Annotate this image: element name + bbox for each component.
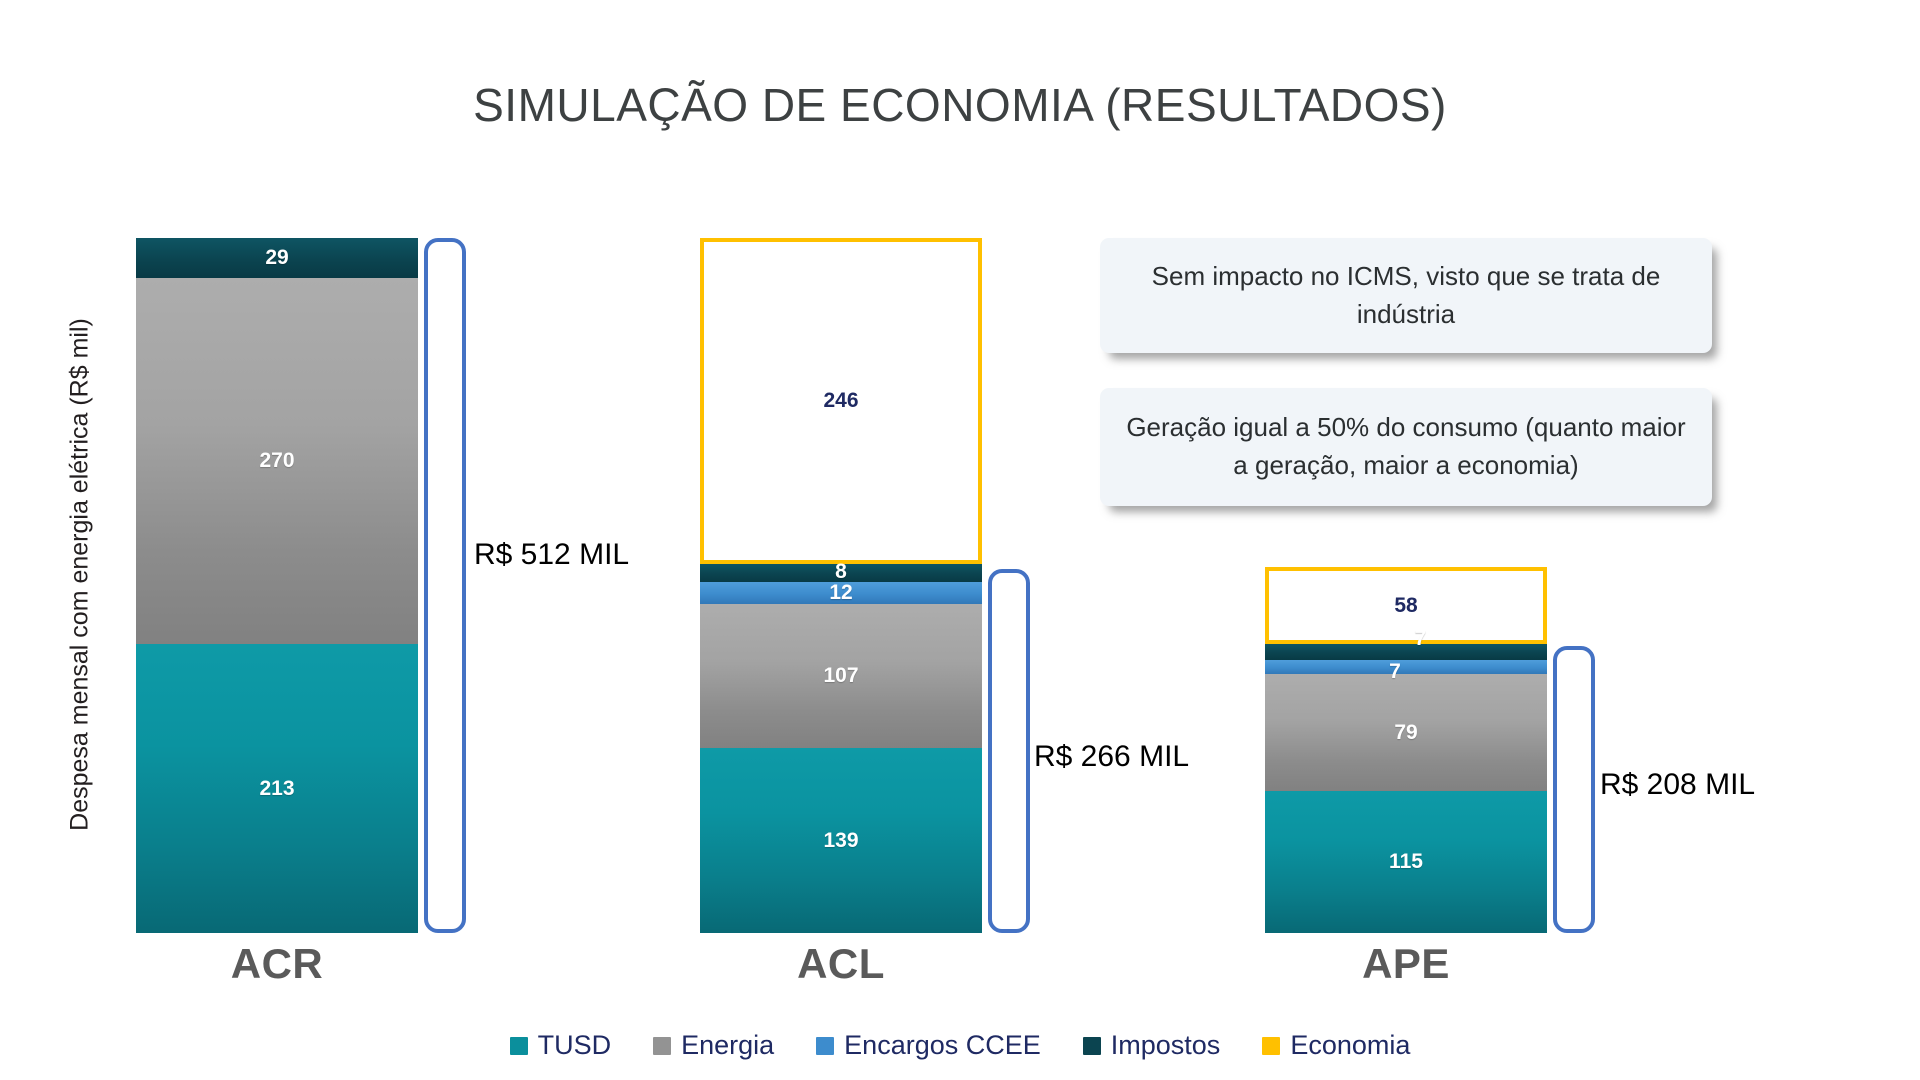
callout-geracao: Geração igual a 50% do consumo (quanto m… xyxy=(1100,388,1712,506)
segment-acl-impostos[interactable]: 8 xyxy=(700,564,982,582)
bar-group-acl: 246 8 12 107 139 xyxy=(700,238,982,933)
bracket-ape xyxy=(1553,646,1595,933)
segment-value: 79 xyxy=(1394,721,1417,745)
category-label-acr: ACR xyxy=(136,940,418,988)
segment-value: 8 xyxy=(835,560,847,584)
segment-acr-energia[interactable]: 270 xyxy=(136,278,418,644)
bracket-acl xyxy=(988,569,1030,933)
segment-value: 139 xyxy=(823,829,858,853)
bracket-total-acl: R$ 266 MIL xyxy=(1034,740,1189,774)
legend-swatch-icon xyxy=(1262,1037,1280,1055)
legend-swatch-icon xyxy=(653,1037,671,1055)
callout-icms: Sem impacto no ICMS, visto que se trata … xyxy=(1100,238,1712,353)
segment-value: 246 xyxy=(823,389,858,413)
stack-acr: 29 270 213 xyxy=(136,238,418,933)
legend-item-energia[interactable]: Energia xyxy=(653,1030,774,1061)
chart-canvas: SIMULAÇÃO DE ECONOMIA (RESULTADOS) Despe… xyxy=(0,0,1920,1080)
legend-item-encargos-ccee[interactable]: Encargos CCEE xyxy=(816,1030,1041,1061)
segment-acl-encargos[interactable]: 12 xyxy=(700,582,982,604)
stack-acl: 246 8 12 107 139 xyxy=(700,238,982,933)
bar-group-acr: 29 270 213 xyxy=(136,238,418,933)
legend-label: Economia xyxy=(1290,1030,1410,1061)
legend-label: Encargos CCEE xyxy=(844,1030,1041,1061)
bar-group-ape: 58 7 7 79 115 xyxy=(1265,567,1547,933)
legend-swatch-icon xyxy=(816,1037,834,1055)
y-axis-label: Despesa mensal com energia elétrica (R$ … xyxy=(66,225,95,925)
segment-value: 107 xyxy=(823,664,858,688)
bracket-acr xyxy=(424,238,466,933)
segment-value: 29 xyxy=(265,246,288,270)
bracket-total-ape: R$ 208 MIL xyxy=(1600,768,1755,802)
legend-swatch-icon xyxy=(510,1037,528,1055)
chart-legend: TUSD Energia Encargos CCEE Impostos Econ… xyxy=(0,1030,1920,1061)
legend-swatch-icon xyxy=(1083,1037,1101,1055)
page-title: SIMULAÇÃO DE ECONOMIA (RESULTADOS) xyxy=(0,78,1920,132)
legend-item-economia[interactable]: Economia xyxy=(1262,1030,1410,1061)
segment-acl-economia[interactable]: 246 xyxy=(700,238,982,564)
segment-ape-economia[interactable]: 58 xyxy=(1265,567,1547,644)
bracket-total-acr: R$ 512 MIL xyxy=(474,538,629,572)
legend-label: TUSD xyxy=(538,1030,612,1061)
segment-acl-energia[interactable]: 107 xyxy=(700,604,982,748)
segment-acl-tusd[interactable]: 139 xyxy=(700,748,982,933)
segment-ape-impostos[interactable]: 7 xyxy=(1265,644,1547,660)
segment-value: 12 xyxy=(829,581,852,605)
segment-ape-tusd[interactable]: 115 xyxy=(1265,791,1547,933)
stack-ape: 58 7 7 79 115 xyxy=(1265,567,1547,933)
segment-acr-tusd[interactable]: 213 xyxy=(136,644,418,933)
segment-value: 7 xyxy=(1414,627,1426,651)
segment-value: 58 xyxy=(1394,594,1417,618)
segment-value: 213 xyxy=(259,777,294,801)
legend-label: Energia xyxy=(681,1030,774,1061)
segment-value: 270 xyxy=(259,449,294,473)
legend-item-impostos[interactable]: Impostos xyxy=(1083,1030,1221,1061)
category-label-ape: APE xyxy=(1265,940,1547,988)
segment-value: 115 xyxy=(1389,850,1423,874)
segment-acr-impostos[interactable]: 29 xyxy=(136,238,418,278)
category-label-acl: ACL xyxy=(700,940,982,988)
legend-item-tusd[interactable]: TUSD xyxy=(510,1030,612,1061)
legend-label: Impostos xyxy=(1111,1030,1221,1061)
segment-ape-encargos[interactable]: 7 xyxy=(1265,660,1547,674)
segment-ape-energia[interactable]: 79 xyxy=(1265,674,1547,791)
segment-value: 7 xyxy=(1389,660,1401,684)
